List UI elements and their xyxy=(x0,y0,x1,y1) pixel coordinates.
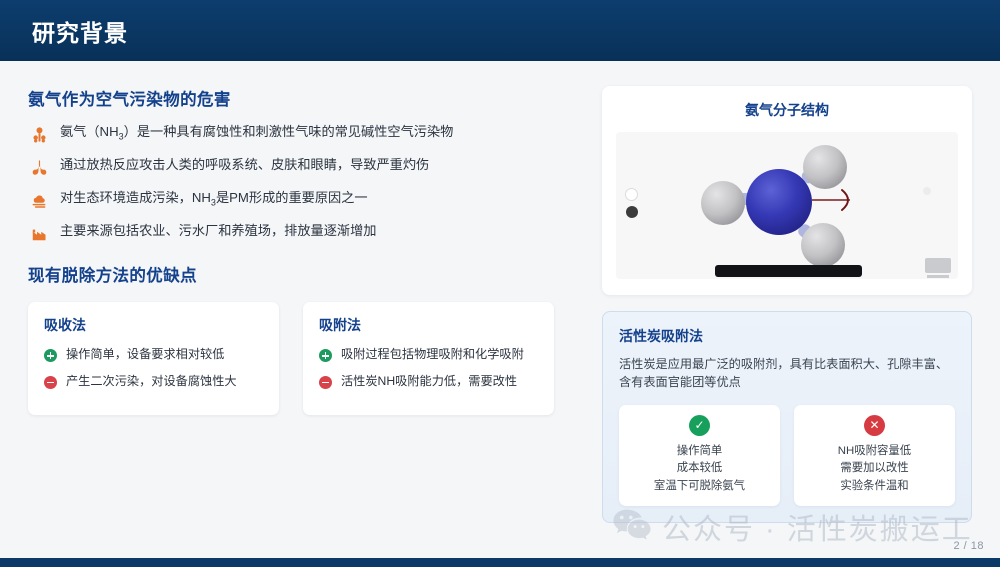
pros-line: 操作简单 xyxy=(625,443,774,461)
list-item: 操作简单，设备要求相对较低 xyxy=(44,347,263,363)
corner-badge-artifact xyxy=(925,258,951,273)
list-item: 氨气（NH3）是一种具有腐蚀性和刺激性气味的常见碱性空气污染物 xyxy=(28,124,573,143)
list-item: 活性炭NH吸附能力低，需要改性 xyxy=(319,374,538,390)
hazard-text: 主要来源包括农业、污水厂和养殖场，排放量逐渐增加 xyxy=(60,223,377,242)
skull-icon xyxy=(28,125,50,143)
plus-circle-icon xyxy=(44,349,57,362)
cons-card[interactable]: ✕ NH吸附容量低 需要加以改性 实验条件温和 xyxy=(794,405,955,506)
cons-line: 需要加以改性 xyxy=(800,460,949,478)
method-card-title: 吸收法 xyxy=(44,315,263,335)
cons-line: 实验条件温和 xyxy=(800,478,949,496)
molecule-card-title: 氨气分子结构 xyxy=(616,100,958,120)
method-card-adsorption[interactable]: 吸附法 吸附过程包括物理吸附和化学吸附 活性炭NH吸附能力低，需要改性 xyxy=(303,302,554,415)
slide-root: 研究背景 氨气作为空气污染物的危害 氨气（NH3）是一种具有腐蚀性和刺激性气味的… xyxy=(0,0,1000,567)
pros-line: 室温下可脱除氨气 xyxy=(625,478,774,496)
list-item: 吸附过程包括物理吸附和化学吸附 xyxy=(319,347,538,363)
pros-card[interactable]: ✓ 操作简单 成本较低 室温下可脱除氨气 xyxy=(619,405,780,506)
method-point-text: 操作简单，设备要求相对较低 xyxy=(66,347,224,363)
activated-carbon-card: 活性炭吸附法 活性炭是应用最广泛的吸附剂，具有比表面积大、孔隙丰富、含有表面官能… xyxy=(602,311,972,523)
carbon-card-title: 活性炭吸附法 xyxy=(619,326,955,346)
lungs-icon xyxy=(28,158,50,176)
ammonia-molecule-image xyxy=(616,132,958,279)
hazard-text: 对生态环境造成污染，NH3是PM形成的重要原因之一 xyxy=(60,190,368,209)
minus-circle-icon xyxy=(44,376,57,389)
molecule-card: 氨气分子结构 xyxy=(602,86,972,295)
hazard-text: 通过放热反应攻击人类的呼吸系统、皮肤和眼睛，导致严重灼伤 xyxy=(60,157,429,176)
minus-circle-icon xyxy=(319,376,332,389)
hazards-list: 氨气（NH3）是一种具有腐蚀性和刺激性气味的常见碱性空气污染物 通过放热反应攻击… xyxy=(28,124,573,242)
smog-icon xyxy=(28,191,50,209)
list-item: 产生二次污染，对设备腐蚀性大 xyxy=(44,374,263,390)
method-point-text: 活性炭NH吸附能力低，需要改性 xyxy=(341,374,517,390)
plus-circle-icon xyxy=(319,349,332,362)
cons-line: NH吸附容量低 xyxy=(800,443,949,461)
check-circle-icon: ✓ xyxy=(689,415,710,436)
factory-icon xyxy=(28,224,50,242)
method-card-title: 吸附法 xyxy=(319,315,538,335)
method-point-text: 吸附过程包括物理吸附和化学吸附 xyxy=(341,347,524,363)
hazard-text: 氨气（NH3）是一种具有腐蚀性和刺激性气味的常见碱性空气污染物 xyxy=(60,124,453,143)
x-circle-icon: ✕ xyxy=(864,415,885,436)
left-column: 氨气作为空气污染物的危害 氨气（NH3）是一种具有腐蚀性和刺激性气味的常见碱性空… xyxy=(28,86,573,415)
slide-header: 研究背景 xyxy=(0,0,1000,61)
dark-circle-icon xyxy=(626,206,638,218)
list-item: 通过放热反应攻击人类的呼吸系统、皮肤和眼睛，导致严重灼伤 xyxy=(28,157,573,176)
method-card-absorption[interactable]: 吸收法 操作简单，设备要求相对较低 产生二次污染，对设备腐蚀性大 xyxy=(28,302,279,415)
right-column: 氨气分子结构 xyxy=(602,86,972,523)
list-item: 主要来源包括农业、污水厂和养殖场，排放量逐渐增加 xyxy=(28,223,573,242)
pros-cons-row: ✓ 操作简单 成本较低 室温下可脱除氨气 ✕ NH吸附容量低 需要加以改性 实验… xyxy=(619,405,955,506)
hazards-heading: 氨气作为空气污染物的危害 xyxy=(28,86,573,110)
method-point-text: 产生二次污染，对设备腐蚀性大 xyxy=(66,374,237,390)
method-cards-row: 吸收法 操作简单，设备要求相对较低 产生二次污染，对设备腐蚀性大 吸附法 吸附过… xyxy=(28,302,573,415)
faint-circle-icon xyxy=(923,187,931,195)
methods-heading: 现有脱除方法的优缺点 xyxy=(28,262,573,286)
carbon-card-description: 活性炭是应用最广泛的吸附剂，具有比表面积大、孔隙丰富、含有表面官能团等优点 xyxy=(619,355,955,392)
pros-line: 成本较低 xyxy=(625,460,774,478)
list-item: 对生态环境造成污染，NH3是PM形成的重要原因之一 xyxy=(28,190,573,209)
slide-footer xyxy=(0,558,1000,567)
nh3-model-svg xyxy=(616,132,958,279)
page-number: 2 / 18 xyxy=(953,540,984,552)
page-title: 研究背景 xyxy=(32,14,128,48)
hollow-circle-icon xyxy=(625,188,638,201)
taskbar-artifact xyxy=(715,265,862,277)
